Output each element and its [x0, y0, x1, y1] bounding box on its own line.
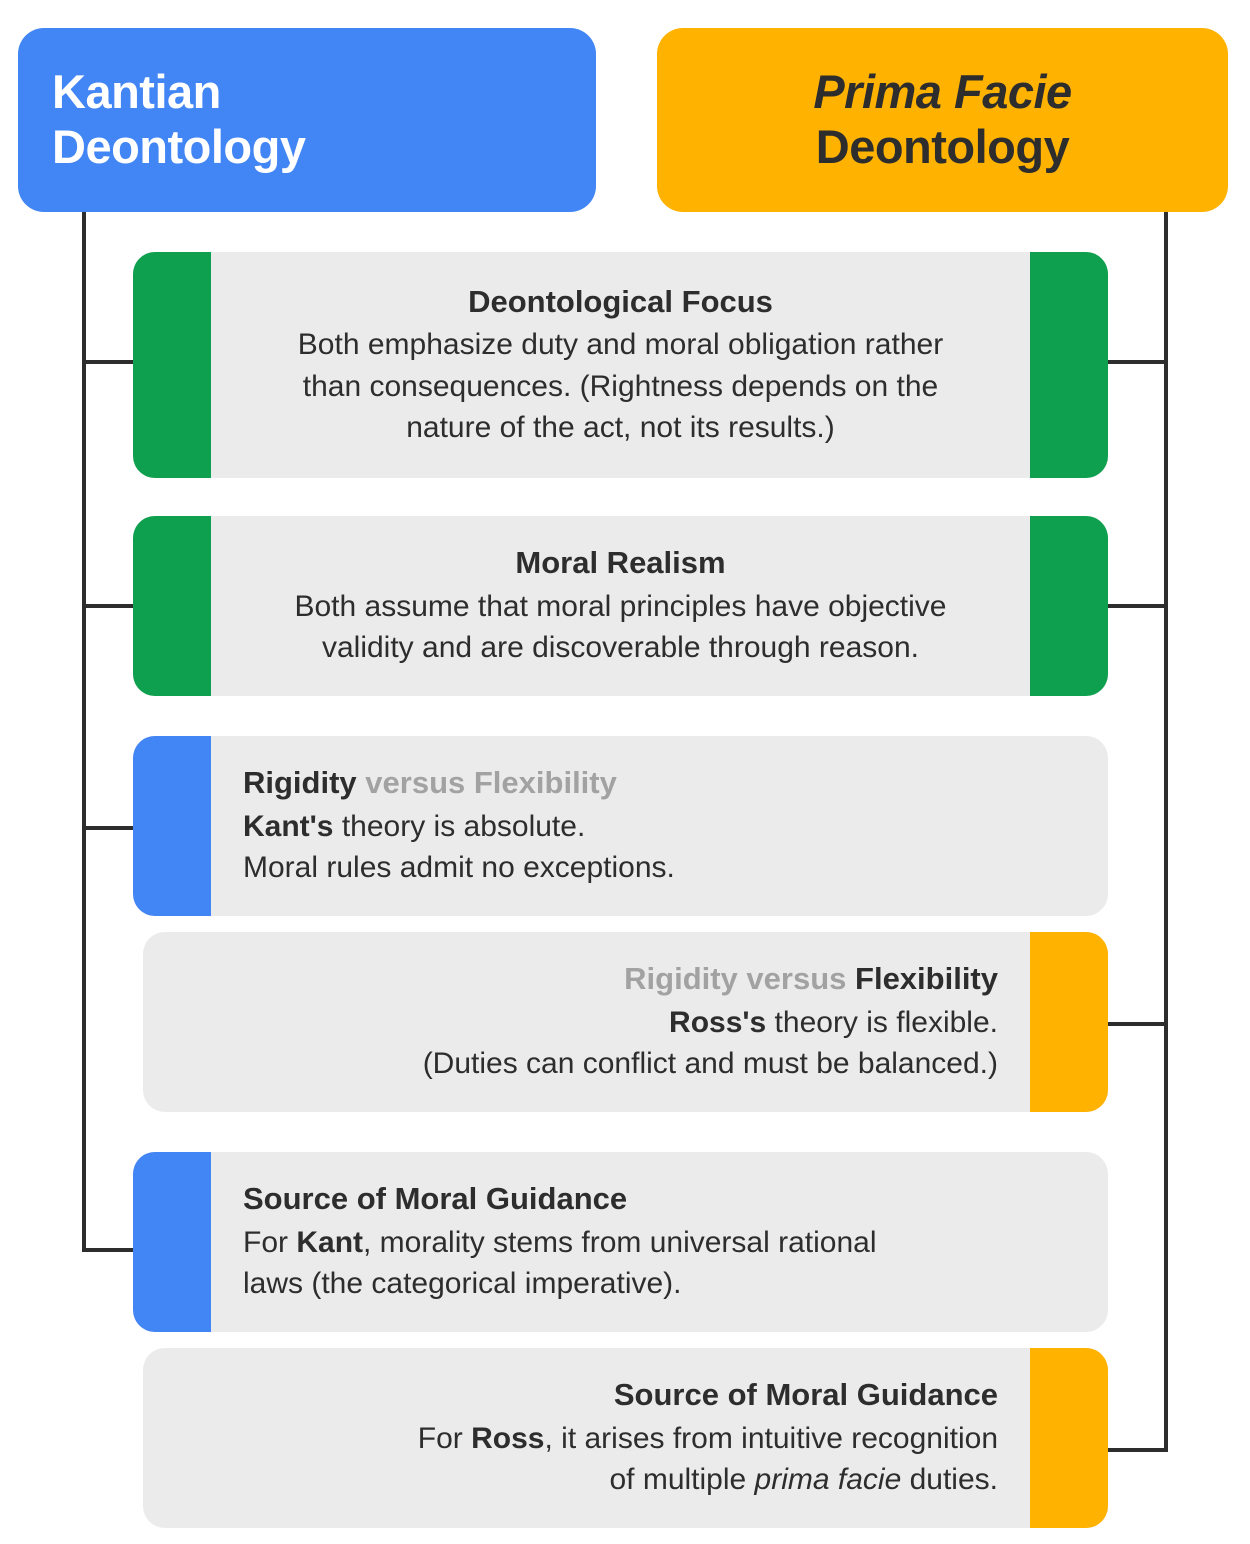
card-line-6-2-pre: of multiple — [609, 1463, 754, 1496]
card-rigidity-kant[interactable]: Rigidity versus Flexibility Kant's theor… — [133, 736, 1108, 916]
right-spine — [1164, 212, 1168, 1452]
card-title-2: Moral Realism — [515, 543, 725, 583]
card-tab-right-green-2 — [1030, 516, 1108, 696]
card-text-6: For Ross, it arises from intuitive recog… — [418, 1418, 998, 1501]
card-tab-left-green-2 — [133, 516, 211, 696]
card-text-1: Both emphasize duty and moral obligation… — [298, 324, 943, 448]
left-branch-card-2 — [82, 604, 137, 608]
left-branch-card-5 — [82, 1248, 137, 1252]
card-line-6-2-post: duties. — [901, 1463, 998, 1496]
card-tab-left-blue-3 — [133, 736, 211, 916]
card-tab-left-blue-5 — [133, 1152, 211, 1332]
card-text-2: Both assume that moral principles have o… — [294, 586, 946, 669]
card-text-5: For Kant, morality stems from universal … — [243, 1222, 877, 1305]
right-branch-card-1 — [1108, 360, 1168, 364]
card-tab-right-green-1 — [1030, 252, 1108, 478]
card-line-1-3: nature of the act, not its results.) — [406, 411, 835, 444]
card-title-4: Rigidity versus Flexibility — [624, 959, 998, 999]
card-line-1-2: than consequences. (Rightness depends on… — [303, 370, 938, 403]
left-branch-card-3 — [82, 826, 137, 830]
card-body-4: Rigidity versus Flexibility Ross's theor… — [143, 932, 1030, 1112]
card-line-5-2: laws (the categorical imperative). — [243, 1267, 682, 1300]
card-term-prima-facie: prima facie — [755, 1463, 902, 1496]
card-title-1: Deontological Focus — [468, 282, 773, 322]
card-line-2-1: Both assume that moral principles have o… — [294, 590, 946, 623]
card-line-5-1-pre: For — [243, 1226, 296, 1259]
card-term-kant: Kant — [296, 1226, 363, 1259]
header-kantian-deontology[interactable]: Kantian Deontology — [18, 28, 596, 212]
card-line-3-1-rest: theory is absolute. — [333, 810, 585, 843]
card-line-4-1-rest: theory is flexible. — [766, 1006, 998, 1039]
card-text-4: Ross's theory is flexible. (Duties can c… — [423, 1002, 998, 1085]
header-prima-facie-text: Prima Facie Deontology — [691, 65, 1194, 174]
card-title-4-muted: Rigidity versus — [624, 961, 846, 996]
header-prima-facie-deontology[interactable]: Prima Facie Deontology — [657, 28, 1228, 212]
card-term-rosss: Ross's — [669, 1006, 766, 1039]
right-branch-card-6 — [1108, 1448, 1168, 1452]
card-text-3: Kant's theory is absolute. Moral rules a… — [243, 806, 675, 889]
comparison-diagram: Kantian Deontology Prima Facie Deontolog… — [0, 0, 1250, 1544]
card-line-3-2: Moral rules admit no exceptions. — [243, 851, 675, 884]
header-kantian-line1: Kantian — [52, 65, 221, 118]
card-title-5: Source of Moral Guidance — [243, 1179, 627, 1219]
card-deontological-focus[interactable]: Deontological Focus Both emphasize duty … — [133, 252, 1108, 478]
card-body-5: Source of Moral Guidance For Kant, moral… — [211, 1152, 1108, 1332]
card-tab-right-orange-6 — [1030, 1348, 1108, 1528]
right-branch-card-4 — [1108, 1022, 1168, 1026]
card-flexibility-ross[interactable]: Rigidity versus Flexibility Ross's theor… — [143, 932, 1108, 1112]
card-title-6: Source of Moral Guidance — [614, 1375, 998, 1415]
right-branch-card-2 — [1108, 604, 1168, 608]
card-line-2-2: validity and are discoverable through re… — [322, 631, 919, 664]
card-body-1: Deontological Focus Both emphasize duty … — [211, 252, 1030, 478]
card-line-6-1-pre: For — [418, 1422, 471, 1455]
card-title-4-bold: Flexibility — [855, 961, 998, 996]
card-line-5-1-post: , morality stems from universal rational — [363, 1226, 877, 1259]
card-title-3-bold: Rigidity — [243, 765, 357, 800]
card-body-2: Moral Realism Both assume that moral pri… — [211, 516, 1030, 696]
card-term-kants: Kant's — [243, 810, 333, 843]
left-spine — [82, 212, 86, 1252]
card-title-3-muted: versus Flexibility — [365, 765, 617, 800]
card-term-ross: Ross — [471, 1422, 544, 1455]
header-prima-facie-line1: Prima Facie — [813, 65, 1071, 118]
left-branch-card-1 — [82, 360, 137, 364]
header-kantian-text: Kantian Deontology — [52, 65, 562, 174]
header-prima-facie-line2: Deontology — [816, 120, 1069, 173]
header-kantian-line2: Deontology — [52, 120, 305, 173]
card-title-3: Rigidity versus Flexibility — [243, 763, 617, 803]
card-line-1-1: Both emphasize duty and moral obligation… — [298, 328, 943, 361]
card-tab-left-green-1 — [133, 252, 211, 478]
card-tab-right-orange-4 — [1030, 932, 1108, 1112]
card-source-guidance-ross[interactable]: Source of Moral Guidance For Ross, it ar… — [143, 1348, 1108, 1528]
card-line-6-1-post: , it arises from intuitive recognition — [544, 1422, 998, 1455]
card-source-guidance-kant[interactable]: Source of Moral Guidance For Kant, moral… — [133, 1152, 1108, 1332]
card-moral-realism[interactable]: Moral Realism Both assume that moral pri… — [133, 516, 1108, 696]
card-line-4-2: (Duties can conflict and must be balance… — [423, 1047, 998, 1080]
card-body-3: Rigidity versus Flexibility Kant's theor… — [211, 736, 1108, 916]
card-body-6: Source of Moral Guidance For Ross, it ar… — [143, 1348, 1030, 1528]
